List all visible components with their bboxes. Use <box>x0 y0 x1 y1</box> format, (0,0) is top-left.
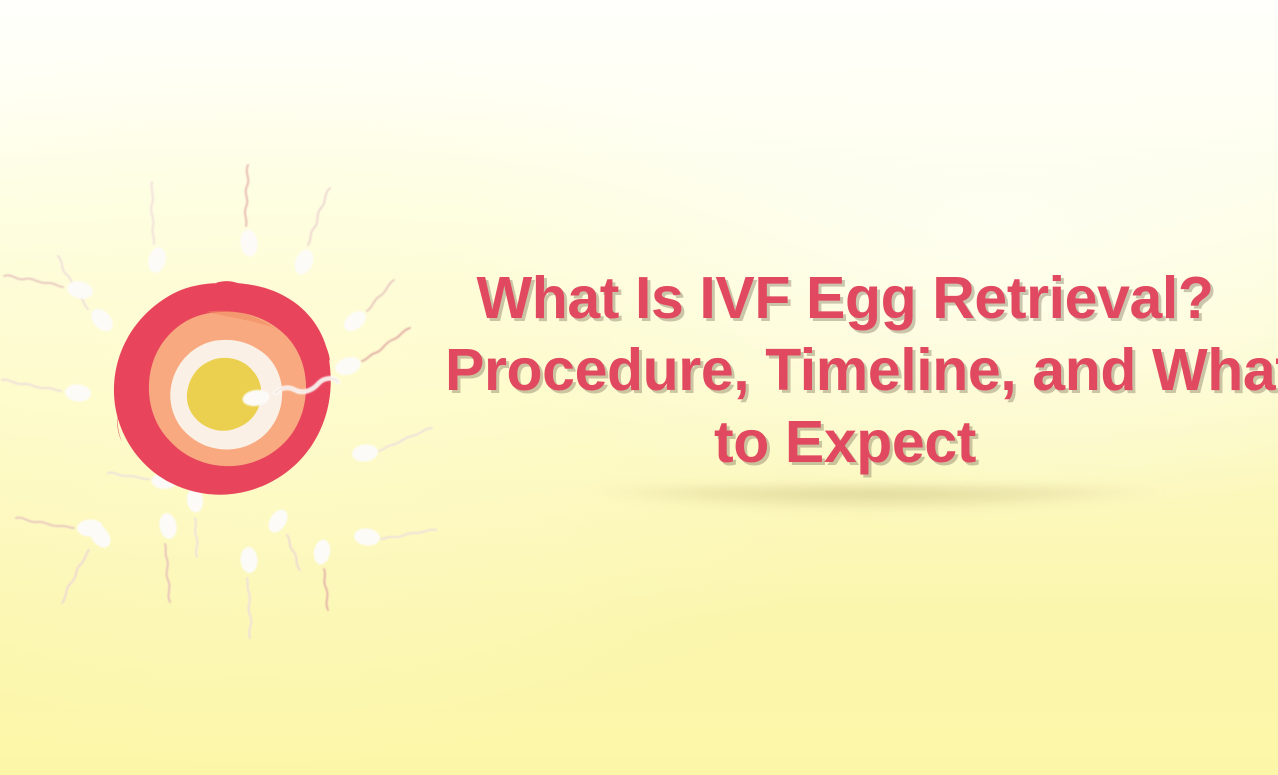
sperm-cell <box>291 188 330 277</box>
sperm-cell <box>186 487 205 557</box>
sperm-cell <box>353 527 436 547</box>
sperm-cell <box>265 506 300 570</box>
sperm-cell <box>2 380 92 403</box>
sperm-cell <box>351 428 432 463</box>
egg-cell <box>114 281 331 495</box>
title-line-3: to Expect <box>445 406 1245 478</box>
ovum-illustration <box>0 140 470 660</box>
headline-shadow-ellipse <box>495 487 1255 549</box>
sperm-cell <box>4 275 95 301</box>
sperm-cell <box>239 165 259 257</box>
sperm-cell <box>240 546 259 638</box>
ivf-banner: What Is IVF Egg Retrieval? Procedure, Ti… <box>0 0 1278 775</box>
title-line-2: Procedure, Timeline, and What <box>445 334 1245 406</box>
title-line-1: What Is IVF Egg Retrieval? <box>445 262 1245 334</box>
sperm-cell <box>333 328 410 378</box>
sperm-cell <box>312 538 332 610</box>
sperm-cell <box>146 182 169 275</box>
sperm-cell <box>340 280 394 335</box>
page-title: What Is IVF Egg Retrieval? Procedure, Ti… <box>445 262 1245 478</box>
sperm-cell <box>157 512 178 602</box>
